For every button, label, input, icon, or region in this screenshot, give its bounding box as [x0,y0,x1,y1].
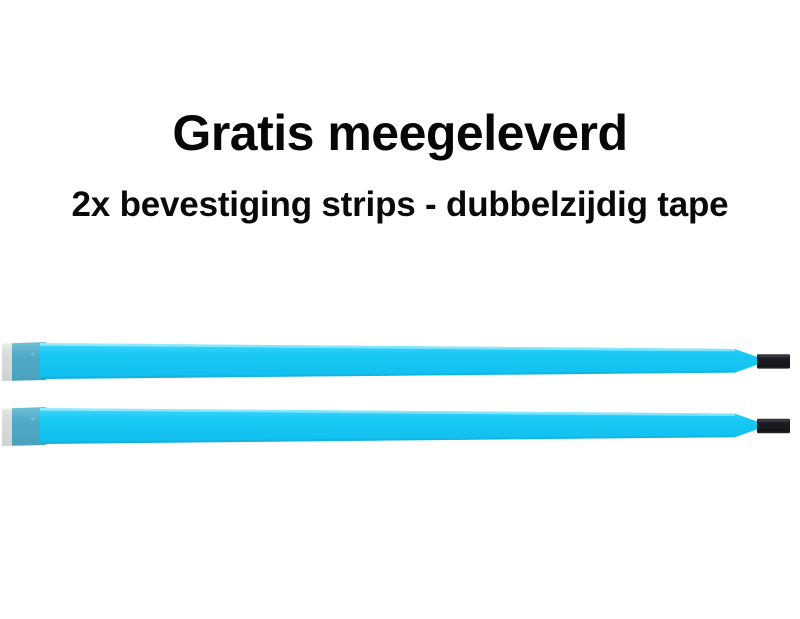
upper-strip-pull-tab [757,354,790,368]
lower-strip-tape-body [40,408,758,444]
lower-strip [0,394,800,450]
lower-strip-release-liner [2,407,46,446]
lower-strip-graphic [0,394,800,450]
product-promo-image: Gratis meegeleverd 2x bevestiging strips… [0,0,800,619]
upper-strip-tape-body [40,343,758,379]
page-title: Gratis meegeleverd [0,104,800,162]
lower-strip-pull-tab [757,419,790,433]
upper-strip-graphic [0,330,800,386]
upper-strip-release-liner [2,342,46,381]
upper-strip [0,330,800,386]
page-subtitle: 2x bevestiging strips - dubbelzijdig tap… [0,184,800,226]
